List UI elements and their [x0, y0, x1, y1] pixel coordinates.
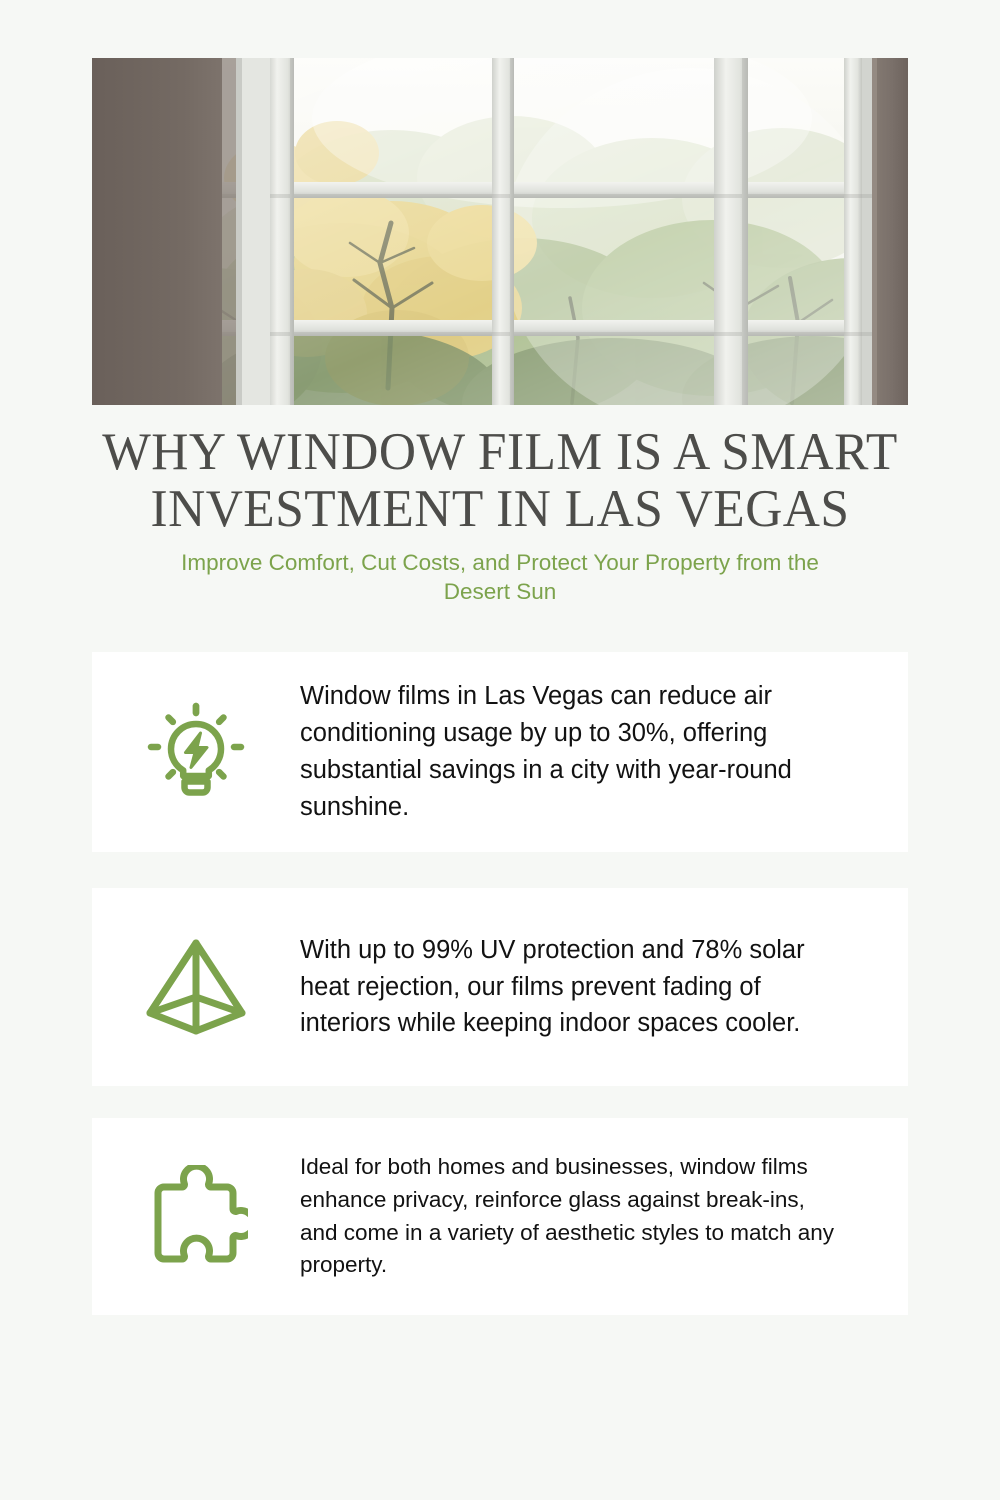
page-title: WHY WINDOW FILM IS A SMART INVESTMENT IN… — [93, 424, 908, 537]
hero-window-image — [92, 58, 908, 405]
pyramid-prism-icon — [92, 935, 300, 1039]
benefit-card-2: With up to 99% UV protection and 78% sol… — [92, 888, 908, 1086]
benefit-card-1-text: Window films in Las Vegas can reduce air… — [300, 678, 908, 826]
benefit-card-3-text: Ideal for both homes and businesses, win… — [300, 1151, 908, 1282]
benefit-card-2-text: With up to 99% UV protection and 78% sol… — [300, 932, 908, 1043]
header-block: WHY WINDOW FILM IS A SMART INVESTMENT IN… — [80, 424, 920, 607]
page-subtitle: Improve Comfort, Cut Costs, and Protect … — [155, 549, 845, 607]
infographic-page: WHY WINDOW FILM IS A SMART INVESTMENT IN… — [0, 0, 1000, 1500]
puzzle-piece-icon — [92, 1165, 300, 1269]
benefit-card-1: Window films in Las Vegas can reduce air… — [92, 652, 908, 852]
benefit-card-3: Ideal for both homes and businesses, win… — [92, 1118, 908, 1315]
lightbulb-energy-icon — [92, 700, 300, 804]
